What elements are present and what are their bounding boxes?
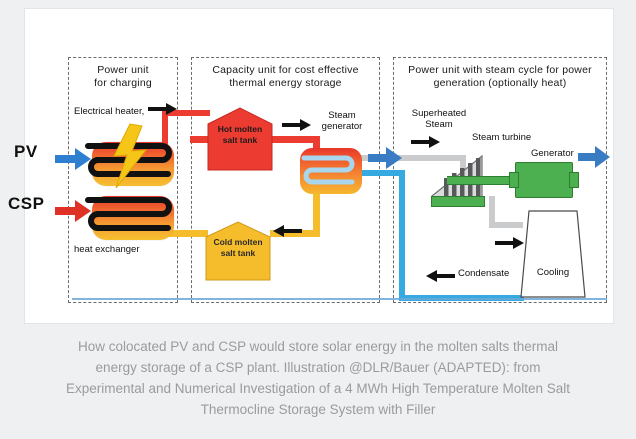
steam-turbine-label: Steam turbine <box>472 132 531 143</box>
section-title-storage-line2: thermal energy storage <box>229 77 341 89</box>
heat-exchanger-label: heat exchanger <box>74 244 140 255</box>
hot-tank-label: Hot molten salt tank <box>208 124 272 146</box>
condensate-label: Condensate <box>458 268 509 279</box>
hot-tank-out-arrow-icon <box>282 118 312 132</box>
caption-line-1: How colocated PV and CSP would store sol… <box>18 336 618 357</box>
exhaust-arrow-icon <box>495 236 525 250</box>
electrical-heater-label: Electrical heater, <box>74 106 144 117</box>
section-title-storage-line1: Capacity unit for cost effective <box>212 64 358 76</box>
generator-end-left <box>509 172 519 188</box>
steam-output-arrow-icon <box>368 147 402 169</box>
section-title-powerblock: Power unit with steam cycle for power ge… <box>394 64 606 90</box>
generator-end-right <box>569 172 579 188</box>
pv-input-label: PV <box>14 146 38 157</box>
steam-generator-label-line1: Steam <box>328 110 355 121</box>
steam-generator-label-line2: generator <box>322 121 363 132</box>
hot-tank-label-line1: Hot molten <box>218 124 262 134</box>
section-title-charging-line2: for charging <box>94 77 152 89</box>
generator-body <box>515 162 573 198</box>
power-output-arrow-icon <box>578 146 610 168</box>
section-title-charging-line1: Power unit <box>97 64 149 76</box>
section-title-storage: Capacity unit for cost effective thermal… <box>192 64 379 90</box>
pipe-condensate-baseline <box>72 298 607 300</box>
cold-tank-in-arrow-icon <box>272 224 302 238</box>
screenshot-root: Power unit for charging Capacity unit fo… <box>0 0 636 439</box>
section-title-powerblock-line1: Power unit with steam cycle for power <box>408 64 592 76</box>
condensate-arrow-icon <box>425 269 455 283</box>
csp-input-label: CSP <box>8 198 44 209</box>
superheated-steam-label-line1: Superheated <box>412 108 466 119</box>
figure-caption: How colocated PV and CSP would store sol… <box>0 336 636 420</box>
lightning-bolt-icon <box>108 124 152 192</box>
cooling-tower <box>521 211 585 297</box>
steam-generator-label: Steam generator <box>312 110 372 132</box>
heat-exchanger-lower-coil <box>84 192 180 246</box>
pipe-condensate-riser <box>399 170 405 300</box>
steam-generator-coil <box>296 146 368 198</box>
pipe-hot-tank-outlet <box>271 136 319 143</box>
hot-molten-salt-tank: Hot molten salt tank <box>208 108 272 170</box>
superheated-steam-arrow-icon <box>411 135 441 149</box>
section-title-powerblock-line2: generation (optionally heat) <box>434 77 567 89</box>
pv-input-arrow-icon <box>55 148 91 170</box>
caption-line-2: energy storage of a CSP plant. Illustrat… <box>18 357 618 378</box>
cold-tank-label-line1: Cold molten <box>213 237 262 247</box>
caption-line-3: Experimental and Numerical Investigation… <box>18 378 618 399</box>
diagram-canvas: Power unit for charging Capacity unit fo… <box>0 0 636 330</box>
cooling-tower-label: Cooling <box>521 267 585 278</box>
superheated-steam-label-line2: Steam <box>425 119 452 130</box>
superheated-steam-label: Superheated Steam <box>400 108 478 130</box>
section-title-charging: Power unit for charging <box>69 64 177 90</box>
turbine-base <box>431 196 485 207</box>
csp-input-arrow-icon <box>55 200 91 222</box>
electrical-heater-arrow-icon <box>148 102 178 116</box>
generator-label: Generator <box>531 148 574 159</box>
caption-line-4: Thermocline Storage System with Filler <box>18 399 618 420</box>
cold-molten-salt-tank: Cold molten salt tank <box>206 222 270 280</box>
cold-tank-label-line2: salt tank <box>221 248 256 258</box>
hot-tank-label-line2: salt tank <box>223 135 258 145</box>
cold-tank-label: Cold molten salt tank <box>206 237 270 259</box>
